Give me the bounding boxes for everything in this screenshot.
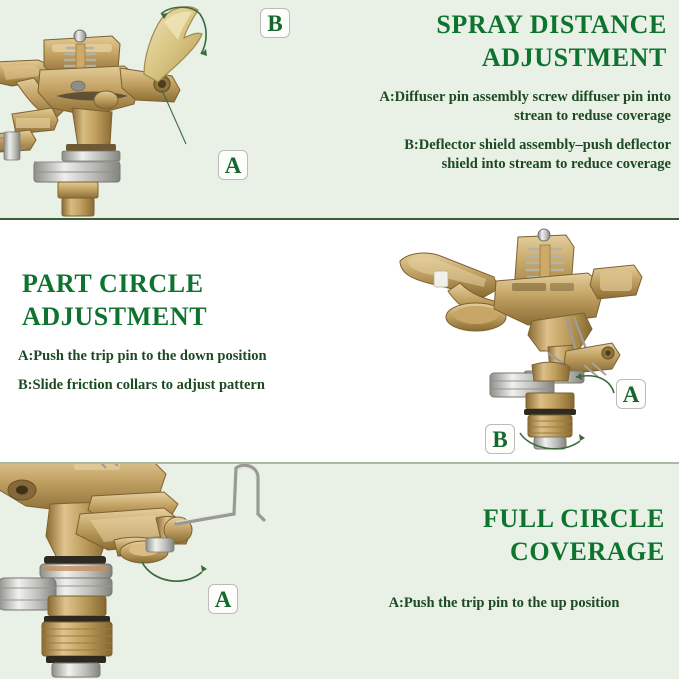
part-circle-text-block: PART CIRCLE ADJUSTMENT A:Push the trip p… [18, 267, 318, 395]
title-line-2: ADJUSTMENT [18, 300, 211, 333]
marker-badge-b: B [260, 8, 290, 38]
sprinkler-illustration-full-circle [0, 464, 276, 677]
infographic-sheet: B A SPRAY DISTANCE ADJUSTMENT A:Diffuser… [0, 0, 679, 679]
full-circle-instruction-a: A:Push the trip pin to the up position [339, 594, 669, 613]
sprinkler-illustration-part-circle [398, 225, 676, 457]
marker-badge-a: A [208, 584, 238, 614]
part-circle-title: PART CIRCLE ADJUSTMENT [18, 267, 318, 333]
part-circle-instruction-a: A:Push the trip pin to the down position [18, 347, 318, 366]
panel-part-circle: A B PART CIRCLE ADJUSTMENT A:Push the tr… [0, 221, 679, 462]
title-line-1: SPRAY DISTANCE [432, 8, 671, 41]
spray-distance-instruction-b: B:Deflector shield assembly–push deflect… [371, 136, 671, 174]
spray-distance-instruction-a: A:Diffuser pin assembly screw diffuser p… [371, 88, 671, 126]
title-line-1: PART CIRCLE [18, 267, 208, 300]
title-line-1: FULL CIRCLE [479, 502, 669, 535]
full-circle-title: FULL CIRCLE COVERAGE [339, 502, 669, 568]
title-line-2: ADJUSTMENT [478, 41, 671, 74]
marker-badge-a: A [218, 150, 248, 180]
panel-full-circle: A FULL CIRCLE COVERAGE A:Push the trip p… [0, 464, 679, 679]
full-circle-text-block: FULL CIRCLE COVERAGE A:Push the trip pin… [339, 502, 669, 613]
title-line-2: COVERAGE [506, 535, 669, 568]
spray-distance-title: SPRAY DISTANCE ADJUSTMENT [371, 8, 671, 74]
panel-spray-distance: B A SPRAY DISTANCE ADJUSTMENT A:Diffuser… [0, 0, 679, 219]
spray-distance-text-block: SPRAY DISTANCE ADJUSTMENT A:Diffuser pin… [371, 8, 671, 174]
marker-badge-b: B [485, 424, 515, 454]
part-circle-instruction-b: B:Slide friction collars to adjust patte… [18, 376, 318, 395]
marker-badge-a: A [616, 379, 646, 409]
divider-top [0, 218, 679, 220]
sprinkler-illustration-spray-distance [0, 4, 270, 219]
